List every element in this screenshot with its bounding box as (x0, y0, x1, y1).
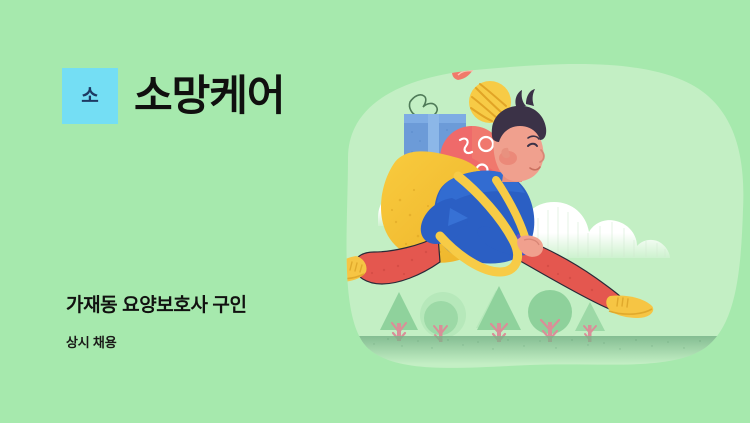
brand-lockup: 소 소망케어 (62, 68, 285, 124)
ground (340, 336, 750, 364)
illustration-running-delivery-man (300, 40, 750, 380)
headline-block: 가재동 요양보호사 구인 상시 채용 (66, 295, 247, 350)
brand-name: 소망케어 (134, 75, 285, 117)
page-title: 가재동 요양보호사 구인 (66, 295, 247, 318)
logo-glyph: 소 (81, 87, 98, 106)
page-subtitle: 상시 채용 (66, 335, 247, 351)
logo-mark-icon: 소 (62, 68, 118, 124)
promo-card: 소 소망케어 가재동 요양보호사 구인 상시 채용 (0, 0, 750, 423)
